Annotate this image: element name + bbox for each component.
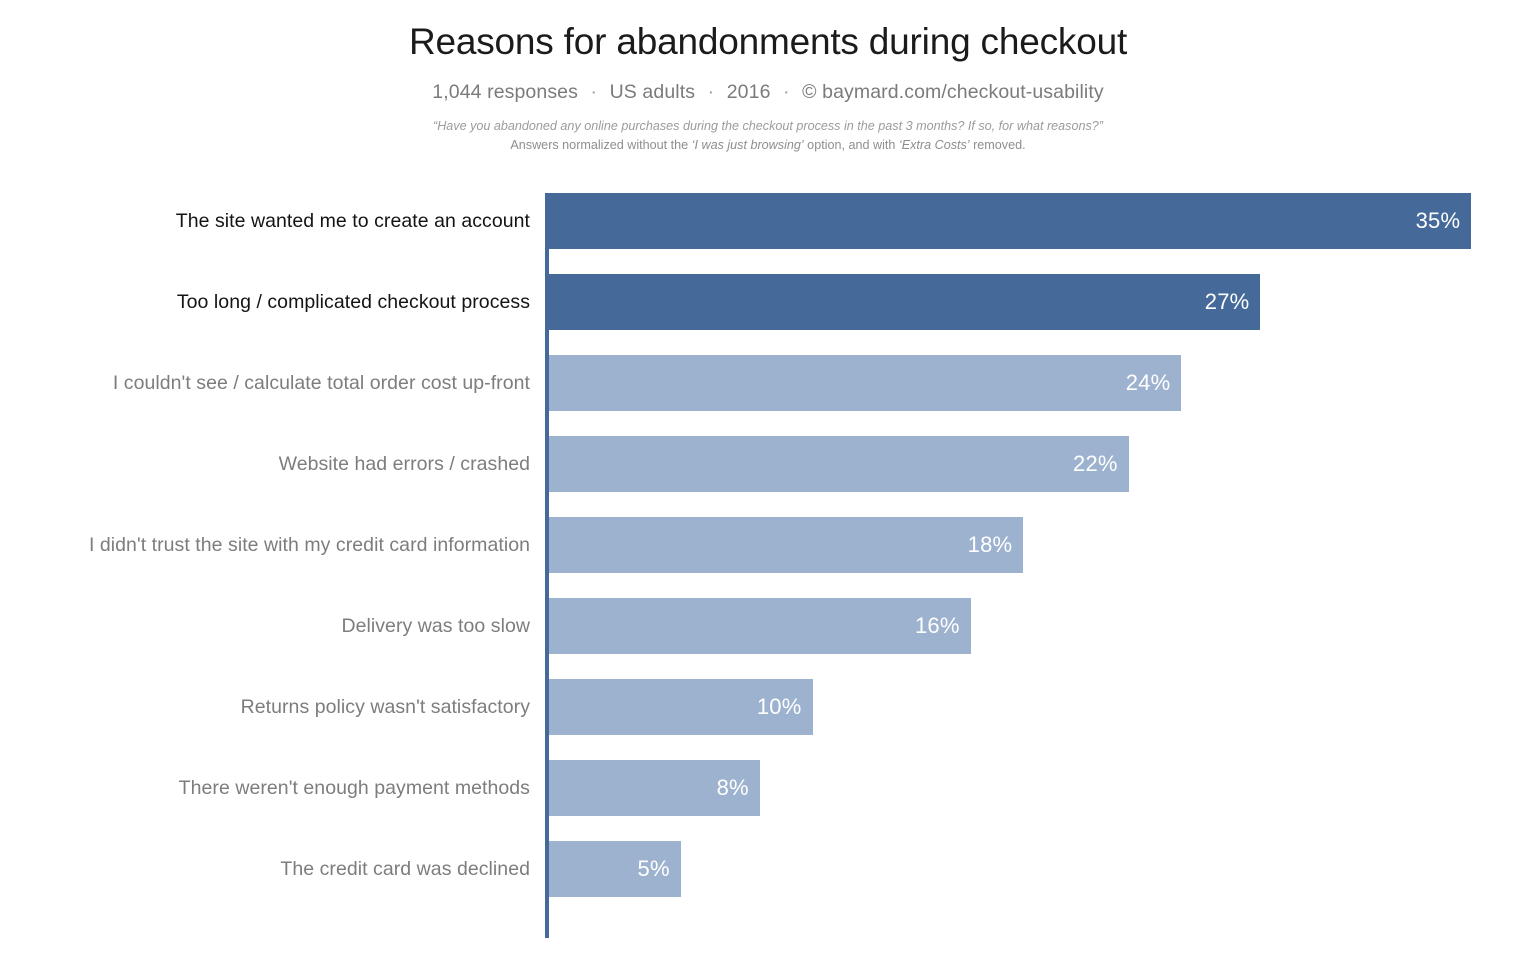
bar-track: 24% (549, 355, 1181, 411)
normalization-note-mid: option, and with (804, 138, 899, 152)
subtitle-separator-2: · (701, 81, 722, 103)
subtitle-year: 2016 (727, 81, 771, 103)
bar-track: 27% (549, 274, 1260, 330)
subtitle-source: © baymard.com/checkout-usability (802, 81, 1104, 103)
chart-header: Reasons for abandonments during checkout… (0, 0, 1536, 156)
bar: 5% (549, 841, 681, 897)
bar: 8% (549, 760, 760, 816)
bar-value-label: 18% (968, 517, 1013, 573)
normalization-note-pre: Answers normalized without the (510, 138, 691, 152)
bar-track: 5% (549, 841, 681, 897)
bar: 27% (549, 274, 1260, 330)
chart-subtitle: 1,044 responses · US adults · 2016 · © b… (0, 81, 1536, 104)
chart-page: Reasons for abandonments during checkout… (0, 0, 1536, 965)
bar-category-label: Too long / complicated checkout process (177, 274, 530, 330)
plot-area: The site wanted me to create an account3… (0, 193, 1536, 938)
bar-value-label: 24% (1126, 355, 1171, 411)
bar-row: I didn't trust the site with my credit c… (0, 517, 1536, 573)
bar: 10% (549, 679, 813, 735)
normalization-note: Answers normalized without the ‘I was ju… (0, 136, 1536, 156)
bar: 22% (549, 436, 1129, 492)
bar-value-label: 8% (717, 760, 749, 816)
bar-category-label: Delivery was too slow (341, 598, 530, 654)
bar-track: 16% (549, 598, 971, 654)
bar-track: 8% (549, 760, 760, 816)
bar-row: Website had errors / crashed22% (0, 436, 1536, 492)
bar-category-label: I didn't trust the site with my credit c… (89, 517, 530, 573)
bar-track: 18% (549, 517, 1023, 573)
bar-value-label: 22% (1073, 436, 1118, 492)
subtitle-separator-1: · (584, 81, 605, 103)
page-title: Reasons for abandonments during checkout (0, 22, 1536, 63)
bar-category-label: The site wanted me to create an account (176, 193, 530, 249)
normalization-note-post: removed. (970, 138, 1026, 152)
bar-value-label: 27% (1205, 274, 1250, 330)
bar: 18% (549, 517, 1023, 573)
bar-row: There weren't enough payment methods8% (0, 760, 1536, 816)
survey-question-note: “Have you abandoned any online purchases… (0, 117, 1536, 137)
normalization-note-option-1: ‘I was just browsing’ (692, 138, 804, 152)
bar-track: 10% (549, 679, 813, 735)
bar-rows: The site wanted me to create an account3… (0, 193, 1536, 922)
bar: 24% (549, 355, 1181, 411)
bar-value-label: 16% (915, 598, 960, 654)
bar-category-label: Website had errors / crashed (279, 436, 530, 492)
bar: 35% (549, 193, 1471, 249)
bar-row: Delivery was too slow16% (0, 598, 1536, 654)
bar-row: The site wanted me to create an account3… (0, 193, 1536, 249)
bar-row: The credit card was declined5% (0, 841, 1536, 897)
bar-category-label: Returns policy wasn't satisfactory (241, 679, 530, 735)
bar-track: 22% (549, 436, 1129, 492)
bar-category-label: There weren't enough payment methods (179, 760, 530, 816)
bar-track: 35% (549, 193, 1471, 249)
bar: 16% (549, 598, 971, 654)
bar-category-label: I couldn't see / calculate total order c… (113, 355, 530, 411)
bar-row: Too long / complicated checkout process2… (0, 274, 1536, 330)
chart-notes: “Have you abandoned any online purchases… (0, 117, 1536, 156)
normalization-note-option-2: ‘Extra Costs’ (899, 138, 970, 152)
subtitle-audience: US adults (610, 81, 695, 103)
bar-row: Returns policy wasn't satisfactory10% (0, 679, 1536, 735)
subtitle-separator-3: · (776, 81, 797, 103)
bar-value-label: 35% (1416, 193, 1461, 249)
bar-value-label: 5% (638, 841, 670, 897)
subtitle-responses: 1,044 responses (432, 81, 578, 103)
bar-row: I couldn't see / calculate total order c… (0, 355, 1536, 411)
bar-value-label: 10% (757, 679, 802, 735)
bar-category-label: The credit card was declined (280, 841, 530, 897)
